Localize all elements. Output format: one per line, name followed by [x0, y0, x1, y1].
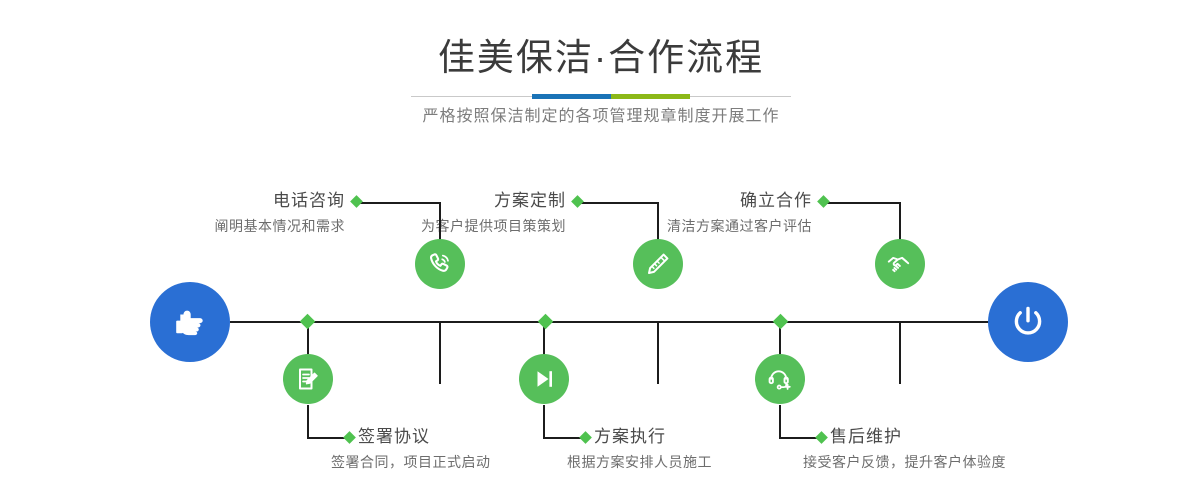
step-icon-circle-4[interactable] [519, 354, 569, 404]
step-icon-circle-5[interactable] [875, 239, 925, 289]
timeline-marker-step-3 [538, 314, 554, 330]
step-subtitle-2: 签署合同，项目正式启动 [331, 452, 591, 472]
label-marker-step-2 [343, 431, 356, 444]
title-divider [411, 94, 791, 99]
step-subtitle-4: 根据方案安排人员施工 [567, 452, 827, 472]
step-title-1: 电话咨询 [185, 190, 345, 212]
step-title-2: 签署协议 [358, 426, 558, 448]
step-title-6: 售后维护 [830, 426, 1030, 448]
step-icon-circle-1[interactable] [415, 239, 465, 289]
power-icon [1007, 301, 1049, 343]
label-marker-step-3 [571, 195, 584, 208]
step-icon-circle-3[interactable] [633, 239, 683, 289]
page-header: 佳美保洁·合作流程 严格按照保洁制定的各项管理规章制度开展工作 [0, 0, 1202, 145]
handshake-icon [885, 249, 915, 279]
label-marker-step-6 [815, 431, 828, 444]
timeline-marker-step-1 [300, 314, 316, 330]
step-subtitle-6: 接受客户反馈，提升客户体验度 [803, 452, 1103, 472]
label-marker-step-5 [817, 195, 830, 208]
page-subtitle: 严格按照保洁制定的各项管理规章制度开展工作 [0, 104, 1202, 130]
step-title-5: 确立合作 [652, 190, 812, 212]
divider-segment-green [611, 94, 690, 99]
label-marker-step-1 [350, 195, 363, 208]
step-subtitle-1: 阐明基本情况和需求 [125, 216, 345, 236]
pencil-ruler-icon [643, 249, 673, 279]
pointing-hand-icon [170, 302, 210, 342]
connector-vline-bottom-step-2 [307, 405, 309, 438]
connector-hline-step-3 [578, 202, 659, 204]
flow-end-node[interactable] [988, 282, 1068, 362]
step-icon-circle-6[interactable] [755, 354, 805, 404]
step-subtitle-5: 清洁方案通过客户评估 [582, 216, 812, 236]
timeline-marker-step-5 [773, 314, 789, 330]
step-subtitle-3: 为客户提供项目策策划 [336, 216, 566, 236]
page-title: 佳美保洁·合作流程 [0, 34, 1202, 82]
connector-vline-bottom-step-4 [543, 405, 545, 438]
play-forward-icon [529, 364, 559, 394]
document-edit-icon [293, 364, 323, 394]
process-flow-diagram: 电话咨询 阐明基本情况和需求 签署协议 签署合同，项目正式启动 方案定制 为客户… [0, 145, 1202, 502]
step-icon-circle-2[interactable] [283, 354, 333, 404]
connector-vline-step-5 [899, 322, 901, 384]
connector-vline-step-1 [439, 322, 441, 384]
connector-vline-step-3 [657, 322, 659, 384]
step-title-3: 方案定制 [406, 190, 566, 212]
divider-segment-blue [532, 94, 611, 99]
connector-vline-bottom-step-6 [779, 405, 781, 438]
connector-hline-step-5 [824, 202, 901, 204]
timeline-axis [230, 321, 996, 323]
connector-hline-step-1 [357, 202, 441, 204]
phone-call-icon [425, 249, 455, 279]
flow-start-node[interactable] [150, 282, 230, 362]
customer-service-add-icon [765, 364, 795, 394]
step-title-4: 方案执行 [594, 426, 794, 448]
label-marker-step-4 [579, 431, 592, 444]
